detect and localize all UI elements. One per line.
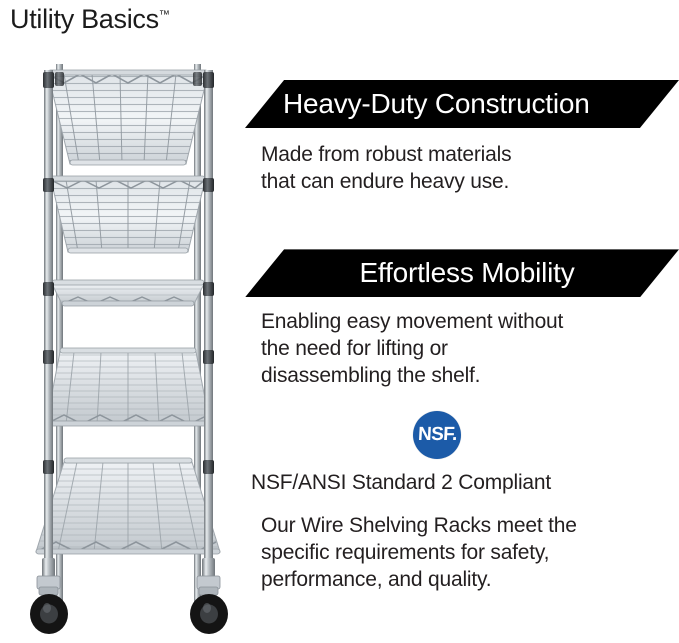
banner-label: Heavy-Duty Construction: [245, 80, 679, 128]
shelf-1: [48, 70, 208, 165]
shelf-5: [36, 458, 220, 554]
description-line: disassembling the shelf.: [261, 363, 679, 390]
feature-description-heavy-duty: Made from robust materials that can endu…: [261, 142, 679, 195]
description-line: Enabling easy movement without: [261, 309, 679, 336]
description-line: Made from robust materials: [261, 142, 679, 169]
front-post-left: [44, 70, 53, 622]
feature-banner-effortless-mobility: Effortless Mobility: [245, 249, 679, 297]
brand-title: Utility Basics™: [10, 4, 170, 35]
description-line: the need for lifting or: [261, 336, 679, 363]
description-line: that can endure heavy use.: [261, 169, 679, 196]
product-image-wire-shelving-rack: [18, 52, 238, 643]
nsf-badge-text: NSF.: [417, 424, 457, 446]
nsf-certification-icon: NSF.: [413, 411, 461, 459]
banner-label: Effortless Mobility: [245, 249, 679, 297]
brand-name: Utility Basics: [10, 4, 159, 34]
feature-banner-heavy-duty-construction: Heavy-Duty Construction: [245, 80, 679, 128]
shelf-3: [52, 280, 204, 306]
shelving-illustration: [18, 52, 238, 643]
certification-description: Our Wire Shelving Racks meet the specifi…: [261, 513, 679, 593]
feature-content-column: Heavy-Duty Construction Made from robust…: [245, 80, 679, 593]
shelf-4: [46, 348, 210, 426]
description-line: performance, and quality.: [261, 567, 679, 594]
front-post-right: [204, 70, 213, 622]
description-line: specific requirements for safety,: [261, 540, 679, 567]
feature-description-effortless-mobility: Enabling easy movement without the need …: [261, 309, 679, 389]
nsf-badge-wrapper: NSF.: [413, 411, 679, 459]
shelf-2: [51, 176, 205, 253]
trademark-symbol: ™: [159, 9, 170, 21]
nsf-compliance-caption: NSF/ANSI Standard 2 Compliant: [251, 471, 679, 495]
description-line: Our Wire Shelving Racks meet the: [261, 513, 679, 540]
infographic-canvas: Utility Basics™: [0, 0, 679, 643]
